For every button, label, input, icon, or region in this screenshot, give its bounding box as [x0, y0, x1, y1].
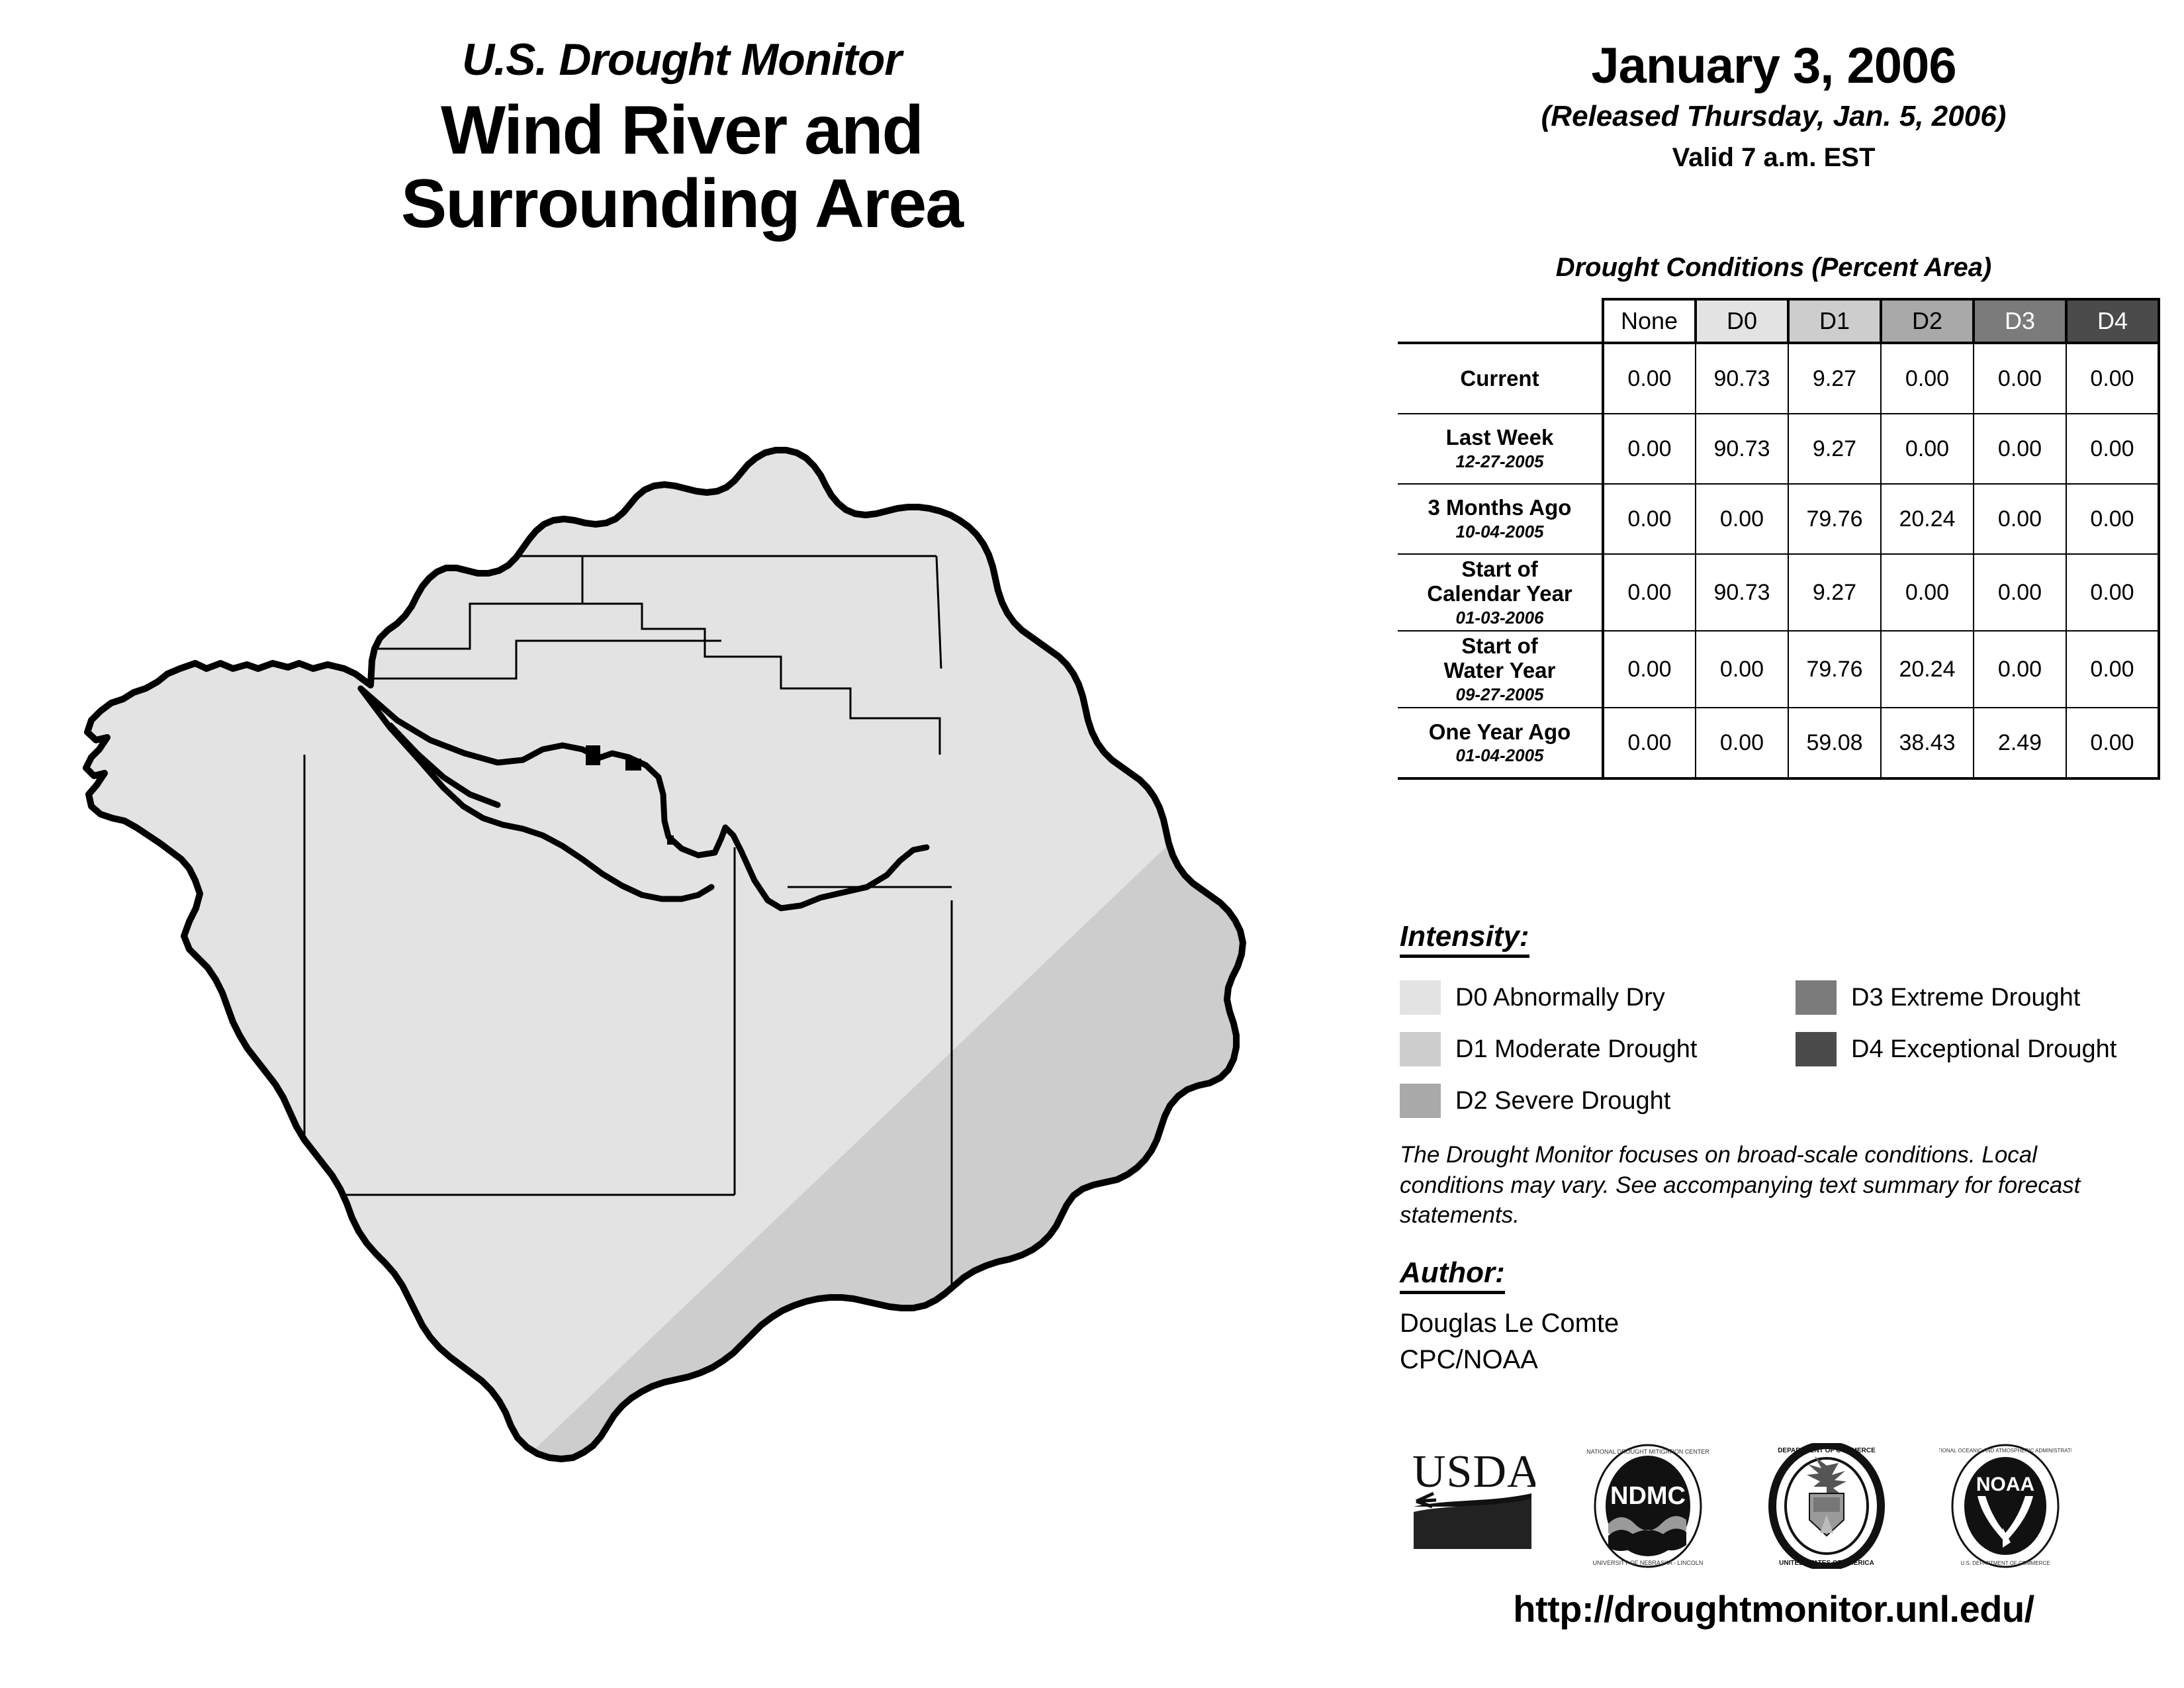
legend-label-d3: D3 Extreme Drought	[1851, 985, 2080, 1010]
disclaimer-text: The Drought Monitor focuses on broad-sca…	[1400, 1140, 2141, 1231]
svg-text:U.S. DEPARTMENT OF COMMERCE: U.S. DEPARTMENT OF COMMERCE	[1960, 1560, 2050, 1566]
table-row: One Year Ago01-04-20050.000.0059.0838.43…	[1398, 708, 2159, 778]
table-cell-d0: 90.73	[1696, 414, 1788, 484]
row-label-line: Current	[1402, 367, 1598, 391]
date-block: January 3, 2006 (Released Thursday, Jan.…	[1363, 40, 2184, 172]
noaa-logo: NOAA NATIONAL OCEANIC AND ATMOSPHERIC AD…	[1939, 1443, 2071, 1572]
legend-label-d2: D2 Severe Drought	[1455, 1088, 1670, 1113]
row-label-line: Start of	[1402, 557, 1598, 582]
legend-item-d2: D2 Severe Drought	[1400, 1075, 1697, 1127]
row-label-line: 3 Months Ago	[1402, 496, 1598, 520]
reservation-marker-3	[667, 835, 674, 845]
table-cell-d1: 9.27	[1788, 554, 1881, 631]
table-head: None D0 D1 D2 D3 D4	[1398, 299, 2159, 343]
title-block: U.S. Drought Monitor Wind River and Surr…	[0, 36, 1363, 240]
row-label-date: 10-04-2005	[1402, 522, 1598, 541]
table-cell-d1: 79.76	[1788, 484, 1881, 554]
drought-map-svg[interactable]	[60, 357, 1357, 1523]
table-cell-d3: 0.00	[1974, 343, 2066, 414]
table-row: Last Week12-27-20050.0090.739.270.000.00…	[1398, 414, 2159, 484]
table-cell-d3: 0.00	[1974, 414, 2066, 484]
table-header-row: None D0 D1 D2 D3 D4	[1398, 299, 2159, 343]
svg-text:USDA: USDA	[1412, 1446, 1535, 1497]
page-title-line2: Surrounding Area	[0, 167, 1363, 240]
table-cell-d4: 0.00	[2066, 708, 2159, 778]
table-body: Current0.0090.739.270.000.000.00Last Wee…	[1398, 343, 2159, 778]
legend-swatch-d1	[1400, 1032, 1441, 1066]
table-cell-d4: 0.00	[2066, 631, 2159, 708]
table-row: Start ofWater Year09-27-20050.000.0079.7…	[1398, 631, 2159, 708]
table-cell-d2: 20.24	[1881, 484, 1974, 554]
column-header-d1: D1	[1788, 299, 1881, 343]
legend-item-d3: D3 Extreme Drought	[1796, 972, 2116, 1023]
legend-item-d4: D4 Exceptional Drought	[1796, 1023, 2116, 1075]
usda-logo: USDA	[1410, 1443, 1535, 1566]
table-cell-d4: 0.00	[2066, 554, 2159, 631]
row-label: 3 Months Ago10-04-2005	[1398, 484, 1603, 554]
column-header-none: None	[1603, 299, 1696, 343]
table-row: Current0.0090.739.270.000.000.00	[1398, 343, 2159, 414]
table-cell-d4: 0.00	[2066, 484, 2159, 554]
table-cell-d1: 59.08	[1788, 708, 1881, 778]
row-label-date: 12-27-2005	[1402, 452, 1598, 471]
table-cell-none: 0.00	[1603, 631, 1696, 708]
row-label: Last Week12-27-2005	[1398, 414, 1603, 484]
table-caption: Drought Conditions (Percent Area)	[1363, 253, 2184, 283]
row-label-line: Water Year	[1402, 659, 1598, 683]
table-cell-d1: 9.27	[1788, 414, 1881, 484]
table-cell-d3: 2.49	[1974, 708, 2066, 778]
svg-text:NATIONAL OCEANIC AND ATMOSPHER: NATIONAL OCEANIC AND ATMOSPHERIC ADMINIS…	[1939, 1448, 2071, 1454]
row-label-line: Calendar Year	[1402, 582, 1598, 606]
table-cell-d0: 0.00	[1696, 708, 1788, 778]
table-cell-d1: 9.27	[1788, 343, 1881, 414]
table-corner-cell	[1398, 299, 1603, 343]
table-cell-none: 0.00	[1603, 484, 1696, 554]
legend-column-left: D0 Abnormally Dry D1 Moderate Drought D2…	[1400, 972, 1697, 1127]
page-title-line1: Wind River and	[0, 94, 1363, 167]
table-cell-d2: 0.00	[1881, 554, 1974, 631]
row-label-date: 09-27-2005	[1402, 685, 1598, 704]
department-of-commerce-seal: DEPARTMENT OF COMMERCE UNITED STATES OF …	[1760, 1443, 1893, 1572]
column-header-d2: D2	[1881, 299, 1974, 343]
svg-text:NATIONAL DROUGHT MITIGATION CE: NATIONAL DROUGHT MITIGATION CENTER	[1586, 1448, 1709, 1455]
row-label: Start ofWater Year09-27-2005	[1398, 631, 1603, 708]
table-cell-d2: 0.00	[1881, 343, 1974, 414]
release-date: (Released Thursday, Jan. 5, 2006)	[1363, 101, 2184, 132]
row-label-date: 01-03-2006	[1402, 608, 1598, 628]
legend-column-right: D3 Extreme Drought D4 Exceptional Drough…	[1796, 972, 2116, 1075]
intensity-heading: Intensity:	[1400, 920, 1529, 958]
table-cell-none: 0.00	[1603, 708, 1696, 778]
table-row: 3 Months Ago10-04-20050.000.0079.7620.24…	[1398, 484, 2159, 554]
table-cell-d3: 0.00	[1974, 554, 2066, 631]
table-cell-none: 0.00	[1603, 554, 1696, 631]
drought-conditions-table: None D0 D1 D2 D3 D4 Current0.0090.739.27…	[1398, 298, 2160, 780]
drought-monitor-kicker: U.S. Drought Monitor	[0, 36, 1363, 83]
ndmc-logo: NDMC NATIONAL DROUGHT MITIGATION CENTER …	[1582, 1443, 1714, 1572]
column-header-d4: D4	[2066, 299, 2159, 343]
row-label: Current	[1398, 343, 1603, 414]
author-name: Douglas Le Comte	[1400, 1305, 1619, 1342]
legend-item-d0: D0 Abnormally Dry	[1400, 972, 1697, 1023]
table-cell-d4: 0.00	[2066, 343, 2159, 414]
row-label: One Year Ago01-04-2005	[1398, 708, 1603, 778]
author-heading: Author:	[1400, 1256, 1505, 1294]
right-panel: January 3, 2006 (Released Thursday, Jan.…	[1363, 0, 2184, 1688]
legend-item-d1: D1 Moderate Drought	[1400, 1023, 1697, 1075]
table-cell-none: 0.00	[1603, 343, 1696, 414]
column-header-d0: D0	[1696, 299, 1788, 343]
table-cell-d0: 0.00	[1696, 631, 1788, 708]
legend-swatch-d4	[1796, 1032, 1837, 1066]
row-label-date: 01-04-2005	[1402, 746, 1598, 765]
svg-text:NOAA: NOAA	[1976, 1474, 2034, 1495]
author-affiliation: CPC/NOAA	[1400, 1342, 1619, 1378]
reservation-marker-1	[586, 745, 600, 765]
footer-url[interactable]: http://droughtmonitor.unl.edu/	[1363, 1587, 2184, 1630]
row-label-line: Last Week	[1402, 426, 1598, 450]
author-block: Douglas Le Comte CPC/NOAA	[1400, 1305, 1619, 1378]
svg-text:UNIVERSITY OF NEBRASKA - LINCO: UNIVERSITY OF NEBRASKA - LINCOLN	[1593, 1560, 1704, 1566]
table-cell-none: 0.00	[1603, 414, 1696, 484]
legend-label-d0: D0 Abnormally Dry	[1455, 985, 1665, 1010]
table-cell-d1: 79.76	[1788, 631, 1881, 708]
table-cell-d3: 0.00	[1974, 484, 2066, 554]
table-cell-d2: 0.00	[1881, 414, 1974, 484]
left-panel: U.S. Drought Monitor Wind River and Surr…	[0, 0, 1363, 1688]
row-label: Start ofCalendar Year01-03-2006	[1398, 554, 1603, 631]
row-label-line: Start of	[1402, 634, 1598, 659]
table-cell-d4: 0.00	[2066, 414, 2159, 484]
valid-time: Valid 7 a.m. EST	[1363, 143, 2184, 172]
table-cell-d0: 0.00	[1696, 484, 1788, 554]
table-row: Start ofCalendar Year01-03-20060.0090.73…	[1398, 554, 2159, 631]
legend-swatch-d3	[1796, 980, 1837, 1015]
table-cell-d3: 0.00	[1974, 631, 2066, 708]
legend-label-d4: D4 Exceptional Drought	[1851, 1037, 2116, 1062]
legend-swatch-d0	[1400, 980, 1441, 1015]
column-header-d3: D3	[1974, 299, 2066, 343]
report-date: January 3, 2006	[1363, 40, 2184, 93]
legend-label-d1: D1 Moderate Drought	[1455, 1037, 1697, 1062]
drought-map[interactable]	[60, 357, 1357, 1523]
table-cell-d2: 38.43	[1881, 708, 1974, 778]
map-drought-layers	[86, 450, 1317, 1523]
svg-text:NDMC: NDMC	[1610, 1482, 1686, 1510]
table-cell-d2: 20.24	[1881, 631, 1974, 708]
page-title: Wind River and Surrounding Area	[0, 94, 1363, 240]
legend-swatch-d2	[1400, 1084, 1441, 1118]
table-cell-d0: 90.73	[1696, 343, 1788, 414]
svg-text:UNITED STATES OF AMERICA: UNITED STATES OF AMERICA	[1779, 1560, 1874, 1567]
svg-text:DEPARTMENT OF COMMERCE: DEPARTMENT OF COMMERCE	[1778, 1447, 1876, 1454]
table-cell-d0: 90.73	[1696, 554, 1788, 631]
row-label-line: One Year Ago	[1402, 720, 1598, 745]
reservation-marker-2	[625, 759, 641, 771]
logo-row: USDA NDMC NATIONAL DROUGHT MITIGATION CE…	[1390, 1443, 2171, 1582]
